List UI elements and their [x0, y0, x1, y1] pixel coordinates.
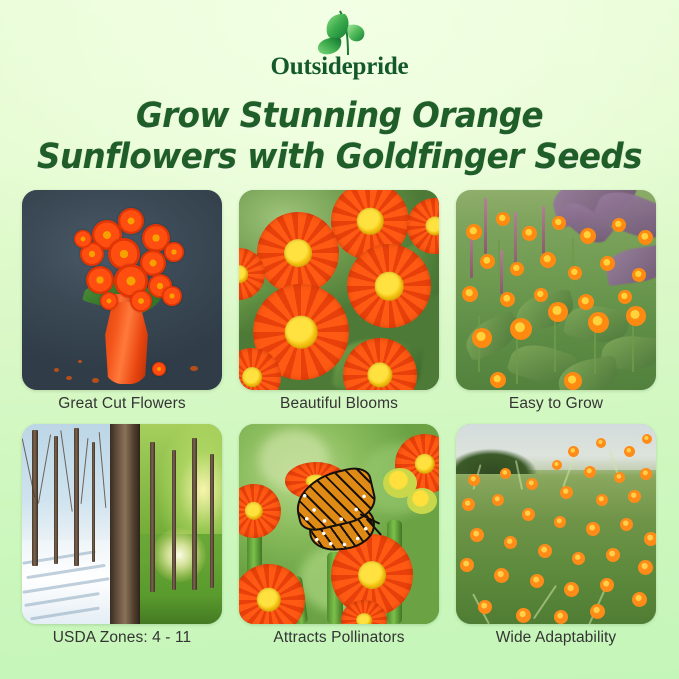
gallery-item-easy-to-grow: Easy to Grow — [456, 190, 656, 413]
brand-name: Outsidepride — [0, 54, 679, 80]
caption-usda-zones: USDA Zones: 4 - 11 — [22, 629, 222, 647]
headline-line-1: Grow Stunning Orange — [31, 96, 648, 137]
gallery-item-usda-zones: USDA Zones: 4 - 11 — [22, 424, 222, 647]
caption-easy-to-grow: Easy to Grow — [456, 395, 656, 413]
photo-garden-bed-illustration — [456, 190, 656, 390]
photo-monarch-butterfly-illustration — [239, 424, 439, 624]
gallery-item-wide-adaptability: Wide Adaptability — [456, 424, 656, 647]
photo-wide-adaptability — [456, 424, 656, 624]
gallery-item-great-cut-flowers: Great Cut Flowers — [22, 190, 222, 413]
photo-attracts-pollinators — [239, 424, 439, 624]
monarch-butterfly — [287, 466, 395, 554]
caption-wide-adaptability: Wide Adaptability — [456, 629, 656, 647]
photo-four-season-forest-illustration — [22, 424, 222, 624]
photo-easy-to-grow — [456, 190, 656, 390]
photo-usda-zones — [22, 424, 222, 624]
page-title: Grow Stunning Orange Sunflowers with Gol… — [31, 96, 648, 178]
feature-gallery: Great Cut Flowers Beautif — [22, 190, 659, 647]
photo-flower-field-illustration — [456, 424, 656, 624]
caption-beautiful-blooms: Beautiful Blooms — [239, 395, 439, 413]
gallery-item-beautiful-blooms: Beautiful Blooms — [239, 190, 439, 413]
photo-blooms-closeup-illustration — [239, 190, 439, 390]
brand-logo: Outsidepride — [0, 6, 679, 80]
headline-line-2: Sunflowers with Goldfinger Seeds — [31, 137, 648, 178]
sprout-leaf-icon — [307, 6, 373, 58]
gallery-item-attracts-pollinators: Attracts Pollinators — [239, 424, 439, 647]
caption-great-cut-flowers: Great Cut Flowers — [22, 395, 222, 413]
photo-great-cut-flowers — [22, 190, 222, 390]
caption-attracts-pollinators: Attracts Pollinators — [239, 629, 439, 647]
photo-beautiful-blooms — [239, 190, 439, 390]
photo-vase-bouquet-illustration — [22, 190, 222, 390]
promo-poster: Outsidepride Grow Stunning Orange Sunflo… — [0, 0, 679, 679]
